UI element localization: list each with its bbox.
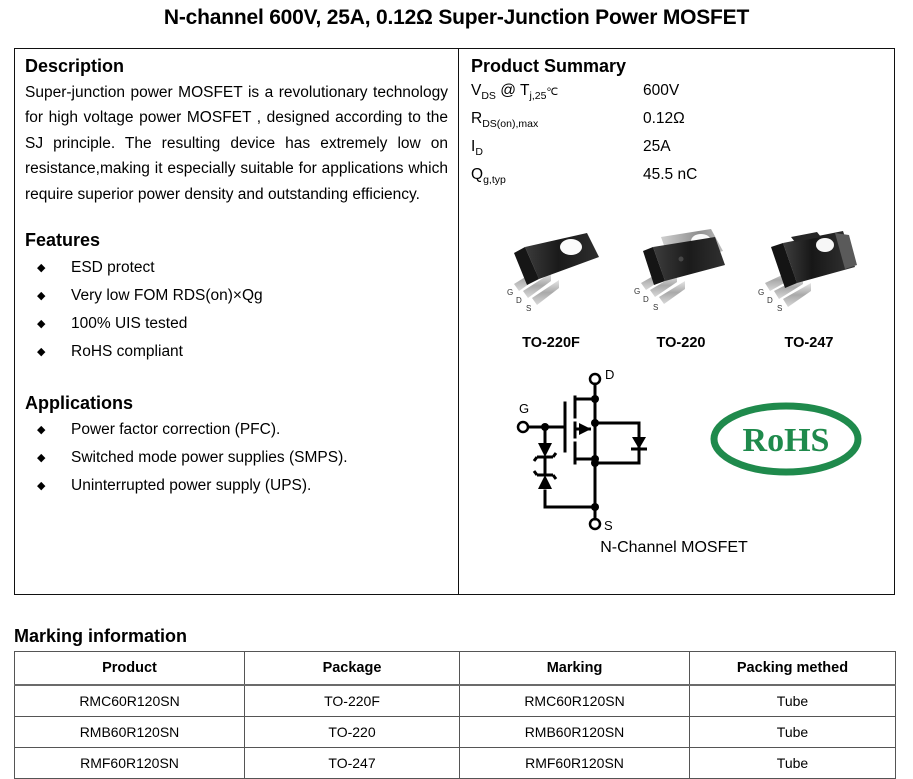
- applications-block: Applications ◆Power factor correction (P…: [25, 392, 448, 501]
- package-label: TO-247: [739, 335, 879, 351]
- list-item: ◆Very low FOM RDS(on)×Qg: [25, 282, 448, 310]
- summary-row-vds: VDS @ Tj,25℃ 600V: [471, 82, 894, 110]
- cell-packing-method: Tube: [690, 748, 896, 779]
- summary-subscript: D: [475, 146, 483, 158]
- applications-heading: Applications: [25, 392, 448, 415]
- summary-subscript: g,typ: [483, 174, 506, 186]
- summary-row-rdson: RDS(on),max 0.12Ω: [471, 110, 894, 138]
- symbol-area: D G S RoHS: [459, 367, 895, 532]
- rohs-logo: RoHS: [704, 395, 869, 483]
- cell-product: RMB60R120SN: [15, 717, 245, 748]
- package-label: TO-220F: [481, 335, 621, 351]
- list-item-label: 100% UIS tested: [71, 315, 187, 332]
- column-header-package: Package: [245, 652, 460, 686]
- symbol-terminal-d: D: [605, 367, 614, 382]
- overview-box: Description Super-junction power MOSFET …: [14, 48, 895, 595]
- description-heading: Description: [25, 55, 448, 78]
- summary-row-qg: Qg,typ 45.5 nC: [471, 166, 894, 194]
- cell-marking: RMF60R120SN: [460, 748, 690, 779]
- cell-package: TO-247: [245, 748, 460, 779]
- list-item-label: Power factor correction (PFC).: [71, 421, 280, 438]
- summary-symbol: V: [471, 82, 481, 99]
- list-item-label: Uninterrupted power supply (UPS).: [71, 477, 311, 494]
- pin-label-s: S: [777, 304, 782, 313]
- list-item-label: RoHS compliant: [71, 343, 183, 360]
- package-to-247: G D S TO-247: [739, 221, 879, 361]
- symbol-caption: N-Channel MOSFET: [459, 539, 889, 557]
- summary-subscript: DS(on),max: [482, 118, 538, 130]
- applications-list: ◆Power factor correction (PFC). ◆Switche…: [25, 416, 448, 500]
- summary-value: 600V: [643, 82, 679, 100]
- package-label: TO-220: [611, 335, 751, 351]
- summary-label: RDS(on),max: [471, 110, 643, 130]
- summary-unit-mark: ℃: [546, 86, 558, 98]
- summary-label: VDS @ Tj,25℃: [471, 82, 643, 102]
- list-item: ◆Power factor correction (PFC).: [25, 416, 448, 444]
- column-header-marking: Marking: [460, 652, 690, 686]
- features-heading: Features: [25, 229, 448, 252]
- cell-packing-method: Tube: [690, 717, 896, 748]
- summary-subscript: DS: [481, 90, 496, 102]
- cell-marking: RMB60R120SN: [460, 717, 690, 748]
- diamond-bullet-icon: ◆: [37, 338, 45, 366]
- pin-label-d: D: [643, 295, 649, 304]
- to-247-image: G D S: [739, 221, 879, 333]
- summary-row-id: ID 25A: [471, 138, 894, 166]
- cell-marking: RMC60R120SN: [460, 685, 690, 717]
- product-summary-list: VDS @ Tj,25℃ 600V RDS(on),max 0.12Ω ID 2…: [471, 82, 894, 194]
- package-to-220: G D S TO-220: [611, 221, 751, 361]
- package-to-220f: G D S TO-220F: [481, 221, 621, 361]
- diamond-bullet-icon: ◆: [37, 254, 45, 282]
- marking-heading: Marking information: [14, 626, 187, 647]
- summary-suffix-subscript: j,25: [529, 90, 546, 102]
- summary-value: 0.12Ω: [643, 110, 685, 128]
- table-row: RMF60R120SN TO-247 RMF60R120SN Tube: [15, 748, 896, 779]
- summary-suffix: @ T: [496, 82, 530, 99]
- table-row: RMB60R120SN TO-220 RMB60R120SN Tube: [15, 717, 896, 748]
- pin-label-g: G: [634, 287, 640, 296]
- table-row: RMC60R120SN TO-220F RMC60R120SN Tube: [15, 685, 896, 717]
- left-column: Description Super-junction power MOSFET …: [15, 49, 459, 594]
- marking-table: Product Package Marking Packing methed R…: [14, 651, 896, 779]
- rohs-text: RoHS: [743, 422, 830, 459]
- cell-packing-method: Tube: [690, 685, 896, 717]
- package-gallery: G D S TO-220F: [459, 221, 895, 361]
- features-block: Features ◆ESD protect ◆Very low FOM RDS(…: [25, 229, 448, 366]
- pin-label-s: S: [653, 303, 658, 312]
- diamond-bullet-icon: ◆: [37, 282, 45, 310]
- features-list: ◆ESD protect ◆Very low FOM RDS(on)×Qg ◆1…: [25, 254, 448, 366]
- pin-label-d: D: [516, 296, 522, 305]
- product-summary-heading: Product Summary: [471, 55, 894, 78]
- list-item: ◆100% UIS tested: [25, 310, 448, 338]
- mosfet-symbol-diagram: D G S: [499, 367, 674, 532]
- list-item: ◆Uninterrupted power supply (UPS).: [25, 472, 448, 500]
- cell-product: RMC60R120SN: [15, 685, 245, 717]
- table-header-row: Product Package Marking Packing methed: [15, 652, 896, 686]
- pin-label-s: S: [526, 304, 531, 313]
- list-item: ◆RoHS compliant: [25, 338, 448, 366]
- description-text: Super-junction power MOSFET is a revolut…: [25, 80, 448, 208]
- cell-package: TO-220: [245, 717, 460, 748]
- summary-label: Qg,typ: [471, 166, 643, 186]
- diamond-bullet-icon: ◆: [37, 472, 45, 500]
- right-column: Product Summary VDS @ Tj,25℃ 600V RDS(on…: [459, 49, 894, 594]
- diamond-bullet-icon: ◆: [37, 444, 45, 472]
- pin-label-d: D: [767, 296, 773, 305]
- list-item-label: ESD protect: [71, 259, 155, 276]
- symbol-terminal-g: G: [519, 401, 529, 416]
- summary-label: ID: [471, 138, 643, 158]
- list-item: ◆Switched mode power supplies (SMPS).: [25, 444, 448, 472]
- to-220-image: G D S: [611, 221, 751, 333]
- column-header-product: Product: [15, 652, 245, 686]
- pin-label-g: G: [507, 288, 513, 297]
- summary-symbol: Q: [471, 166, 483, 183]
- list-item-label: Very low FOM RDS(on)×Qg: [71, 287, 263, 304]
- page-title: N-channel 600V, 25A, 0.12Ω Super-Junctio…: [0, 6, 913, 30]
- pin-label-g: G: [758, 288, 764, 297]
- cell-product: RMF60R120SN: [15, 748, 245, 779]
- symbol-terminal-s: S: [604, 518, 613, 532]
- to-220f-image: G D S: [481, 221, 621, 333]
- summary-value: 45.5 nC: [643, 166, 697, 184]
- diamond-bullet-icon: ◆: [37, 310, 45, 338]
- list-item: ◆ESD protect: [25, 254, 448, 282]
- list-item-label: Switched mode power supplies (SMPS).: [71, 449, 348, 466]
- cell-package: TO-220F: [245, 685, 460, 717]
- summary-symbol: R: [471, 110, 482, 127]
- summary-value: 25A: [643, 138, 671, 156]
- column-header-packing-method: Packing methed: [690, 652, 896, 686]
- diamond-bullet-icon: ◆: [37, 416, 45, 444]
